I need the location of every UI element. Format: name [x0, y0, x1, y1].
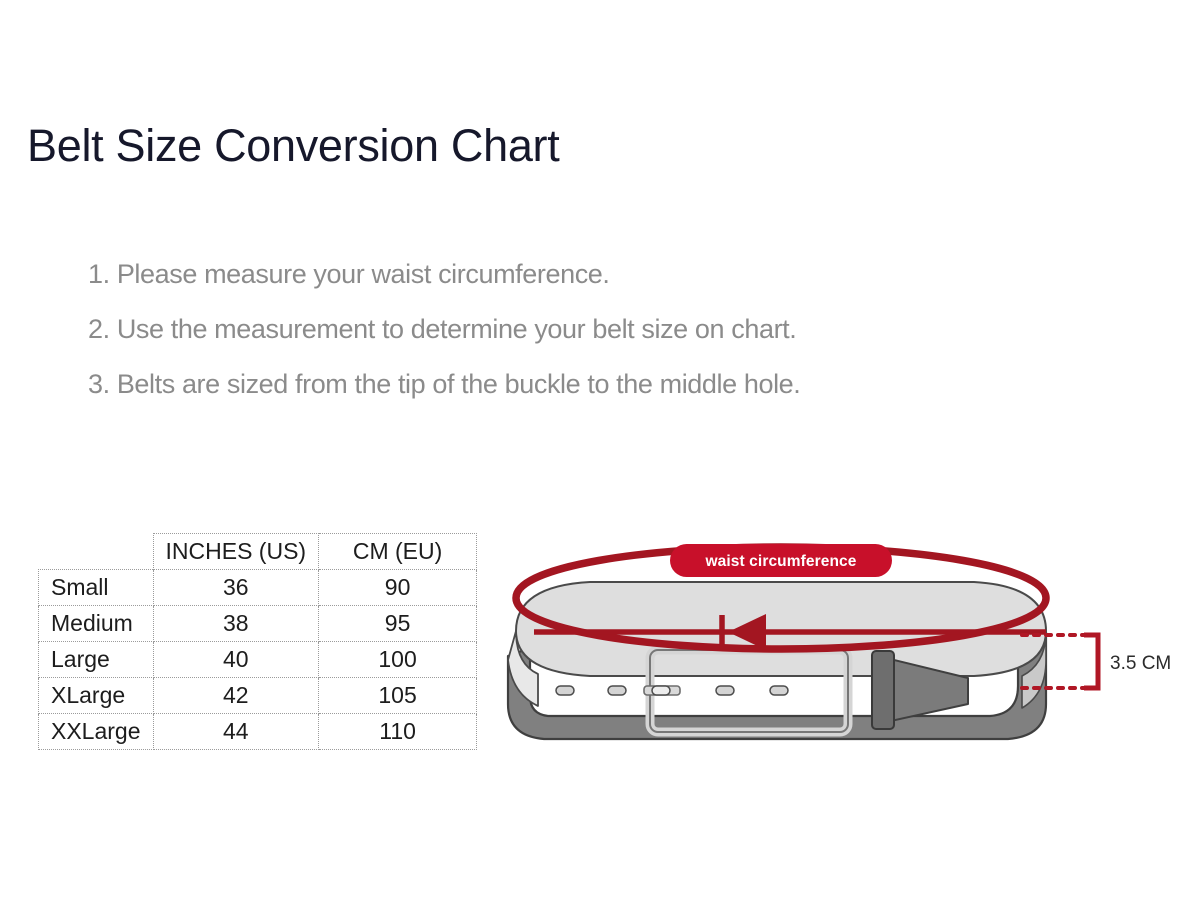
size-conversion-table: INCHES (US) CM (EU) Small 36 90 Medium 3…	[38, 533, 477, 750]
table-row: Small 36 90	[39, 570, 477, 606]
cell-cm-xlarge: 105	[319, 678, 477, 714]
size-conversion-table-wrapper: INCHES (US) CM (EU) Small 36 90 Medium 3…	[38, 533, 477, 750]
belt-top-surface-icon	[516, 582, 1046, 676]
column-header-cm: CM (EU)	[319, 534, 477, 570]
column-header-inches: INCHES (US)	[153, 534, 319, 570]
cell-size-xlarge: XLarge	[39, 678, 154, 714]
table-row: XLarge 42 105	[39, 678, 477, 714]
table-row: XXLarge 44 110	[39, 714, 477, 750]
cell-inches-xxlarge: 44	[153, 714, 319, 750]
table-row: Medium 38 95	[39, 606, 477, 642]
table-corner-blank-cell	[39, 534, 154, 570]
cell-size-xxlarge: XXLarge	[39, 714, 154, 750]
cell-inches-xlarge: 42	[153, 678, 319, 714]
waist-circumference-label-text: waist circumference	[705, 553, 857, 570]
table-body: Small 36 90 Medium 38 95 Large 40 100 XL…	[39, 570, 477, 750]
cell-size-small: Small	[39, 570, 154, 606]
cell-cm-small: 90	[319, 570, 477, 606]
instruction-item-1: 1. Please measure your waist circumferen…	[88, 247, 1068, 302]
belt-diagram: waist circumference 3.5 CM	[498, 536, 1188, 751]
instruction-item-2: 2. Use the measurement to determine your…	[88, 302, 1068, 357]
cell-cm-xxlarge: 110	[319, 714, 477, 750]
cell-inches-small: 36	[153, 570, 319, 606]
instruction-item-3: 3. Belts are sized from the tip of the b…	[88, 357, 1068, 412]
cell-inches-medium: 38	[153, 606, 319, 642]
belt-size-chart-page: Belt Size Conversion Chart 1. Please mea…	[0, 0, 1200, 898]
cell-cm-large: 100	[319, 642, 477, 678]
instruction-list: 1. Please measure your waist circumferen…	[88, 247, 1068, 412]
belt-width-label-text: 3.5 CM	[1110, 653, 1171, 674]
waist-circumference-label: waist circumference	[670, 544, 892, 577]
cell-cm-medium: 95	[319, 606, 477, 642]
cell-inches-large: 40	[153, 642, 319, 678]
table-header-row: INCHES (US) CM (EU)	[39, 534, 477, 570]
cell-size-large: Large	[39, 642, 154, 678]
cell-size-medium: Medium	[39, 606, 154, 642]
belt-keeper-loop-icon	[872, 651, 894, 729]
page-title: Belt Size Conversion Chart	[27, 120, 559, 172]
table-header: INCHES (US) CM (EU)	[39, 534, 477, 570]
table-row: Large 40 100	[39, 642, 477, 678]
